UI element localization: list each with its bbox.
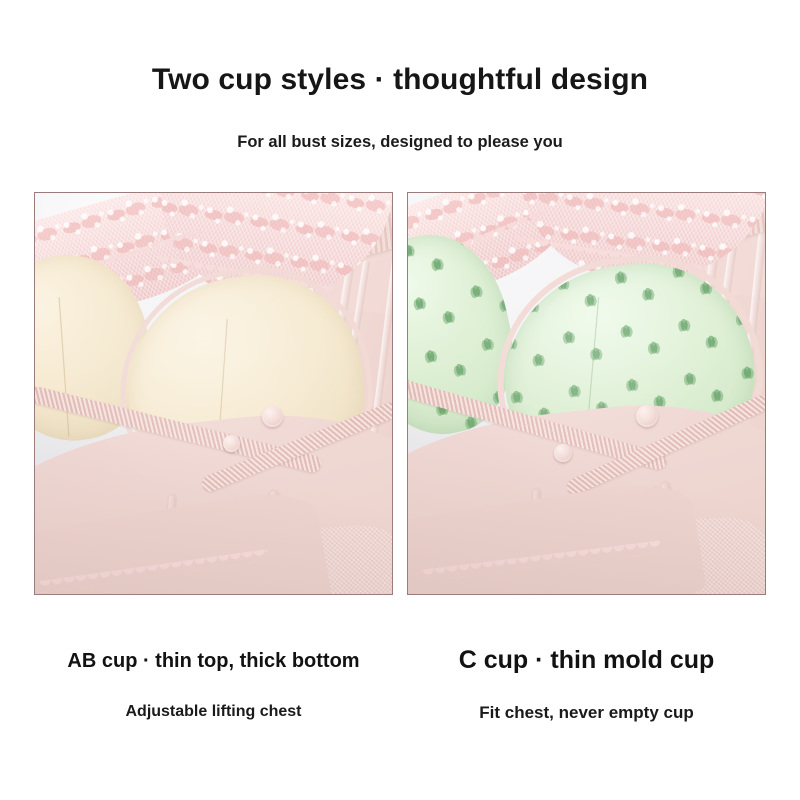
snap-button-icon bbox=[636, 405, 658, 427]
snap-button-icon bbox=[223, 435, 240, 452]
caption-c-cup-main: C cup · thin mold cup bbox=[407, 646, 766, 675]
caption-ab-cup-sub: Adjustable lifting chest bbox=[34, 703, 393, 721]
caption-ab-cup-main: AB cup · thin top, thick bottom bbox=[34, 650, 393, 673]
infographic-page: Two cup styles · thoughtful design For a… bbox=[0, 0, 800, 800]
product-photo-panel-c-cup bbox=[407, 192, 766, 595]
product-photo-panel-ab-cup bbox=[34, 192, 393, 595]
caption-c-cup-sub: Fit chest, never empty cup bbox=[407, 703, 766, 723]
ab-cup-photo bbox=[35, 193, 392, 594]
snap-button-icon bbox=[262, 406, 283, 427]
c-cup-photo bbox=[408, 193, 765, 594]
snap-button-icon bbox=[554, 444, 572, 462]
page-subtitle: For all bust sizes, designed to please y… bbox=[0, 133, 800, 152]
page-title: Two cup styles · thoughtful design bbox=[0, 63, 800, 97]
